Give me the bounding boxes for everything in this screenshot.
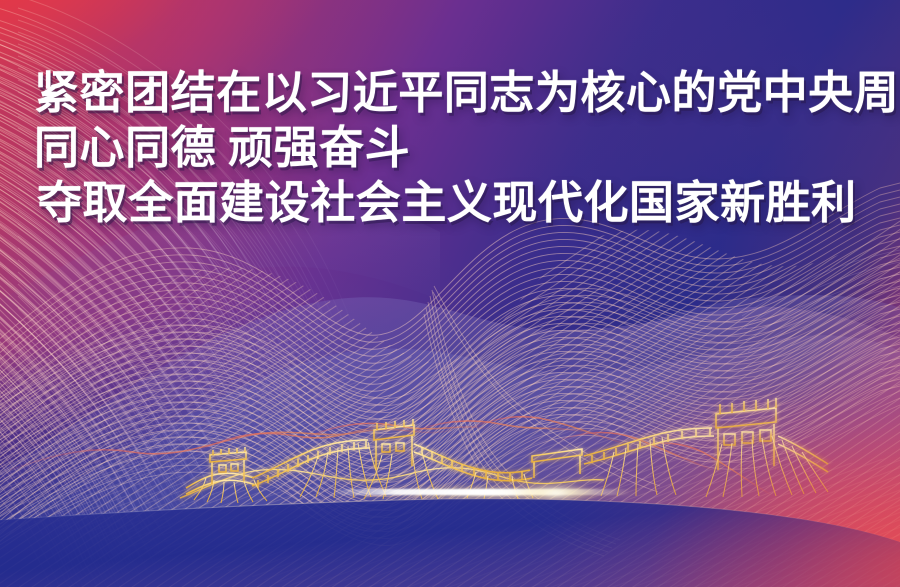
foreground-ground-sweep	[0, 0, 900, 587]
poster-canvas: 紧密团结在以习近平同志为核心的党中央周围 同心同德 顽强奋斗 夺取全面建设社会主…	[0, 0, 900, 587]
